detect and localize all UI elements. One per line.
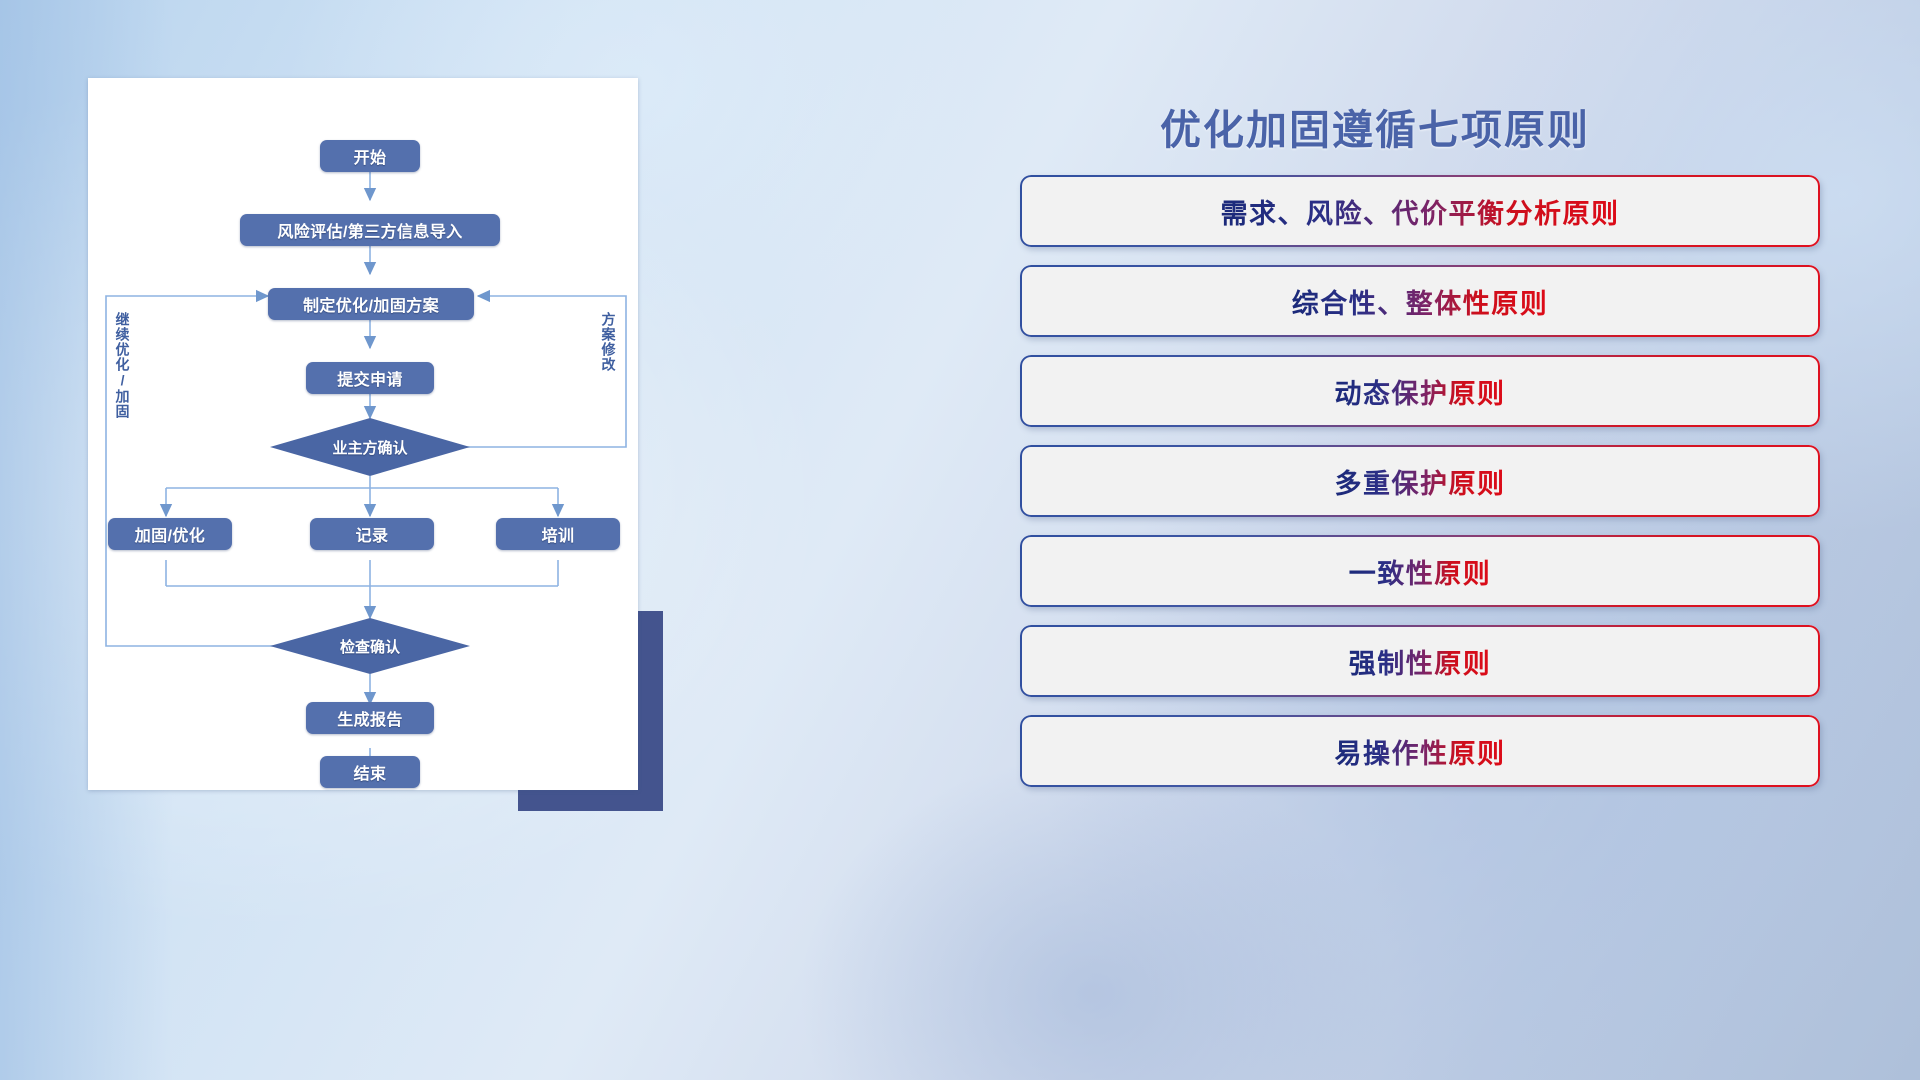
flow-node-check-confirm[interactable]: 检查确认 — [270, 618, 470, 674]
principle-card-6[interactable]: 强制性原则 — [1020, 625, 1820, 697]
edge-label-plan-revision: 方案修改 — [600, 312, 617, 416]
principle-card-1-label: 需求、风险、代价平衡分析原则 — [1221, 192, 1620, 231]
principle-card-5[interactable]: 一致性原则 — [1020, 535, 1820, 607]
flow-node-owner-confirm[interactable]: 业主方确认 — [270, 418, 470, 476]
principle-card-1[interactable]: 需求、风险、代价平衡分析原则 — [1020, 175, 1820, 247]
flow-node-risk-assessment-label: 风险评估/第三方信息导入 — [277, 218, 462, 242]
flow-node-submit-label: 提交申请 — [337, 366, 403, 390]
flow-node-record[interactable]: 记录 — [310, 518, 434, 550]
principle-card-3[interactable]: 动态保护原则 — [1020, 355, 1820, 427]
page-title: 优化加固遵循七项原则 — [1160, 96, 1590, 156]
principle-card-2[interactable]: 综合性、整体性原则 — [1020, 265, 1820, 337]
flow-node-end-label: 结束 — [354, 760, 387, 784]
principles-panel: 优化加固遵循七项原则 需求、风险、代价平衡分析原则 综合性、整体性原则 动态保护… — [1020, 80, 1840, 1010]
principle-card-6-label: 强制性原则 — [1349, 642, 1492, 681]
flow-node-plan-label: 制定优化/加固方案 — [303, 292, 439, 316]
flow-node-training-label: 培训 — [542, 522, 575, 546]
principle-card-7[interactable]: 易操作性原则 — [1020, 715, 1820, 787]
flow-node-risk-assessment[interactable]: 风险评估/第三方信息导入 — [240, 214, 500, 246]
flow-node-check-confirm-label: 检查确认 — [340, 636, 400, 657]
flow-node-end[interactable]: 结束 — [320, 756, 420, 788]
flow-node-submit[interactable]: 提交申请 — [306, 362, 434, 394]
principle-card-2-label: 综合性、整体性原则 — [1292, 282, 1549, 321]
flow-node-record-label: 记录 — [356, 522, 389, 546]
flow-node-training[interactable]: 培训 — [496, 518, 620, 550]
flow-node-reinforce[interactable]: 加固/优化 — [108, 518, 232, 550]
principle-card-7-label: 易操作性原则 — [1335, 732, 1506, 771]
principle-card-5-label: 一致性原则 — [1349, 552, 1492, 591]
flow-node-owner-confirm-label: 业主方确认 — [332, 437, 407, 458]
flow-node-start[interactable]: 开始 — [320, 140, 420, 172]
flow-node-generate-report[interactable]: 生成报告 — [306, 702, 434, 734]
flow-node-plan[interactable]: 制定优化/加固方案 — [268, 288, 474, 320]
principle-card-4-label: 多重保护原则 — [1335, 462, 1506, 501]
principles-list: 需求、风险、代价平衡分析原则 综合性、整体性原则 动态保护原则 多重保护原则 一… — [1020, 175, 1820, 805]
principle-card-3-label: 动态保护原则 — [1335, 372, 1506, 411]
flow-node-reinforce-label: 加固/优化 — [135, 522, 205, 546]
flowchart-panel: 开始 风险评估/第三方信息导入 制定优化/加固方案 提交申请 业主方确认 加固/… — [88, 78, 638, 790]
principle-card-4[interactable]: 多重保护原则 — [1020, 445, 1820, 517]
flow-node-generate-report-label: 生成报告 — [337, 706, 403, 730]
edge-label-continue-optimize: 继续优化/加固 — [114, 312, 131, 448]
flow-node-start-label: 开始 — [354, 144, 387, 168]
